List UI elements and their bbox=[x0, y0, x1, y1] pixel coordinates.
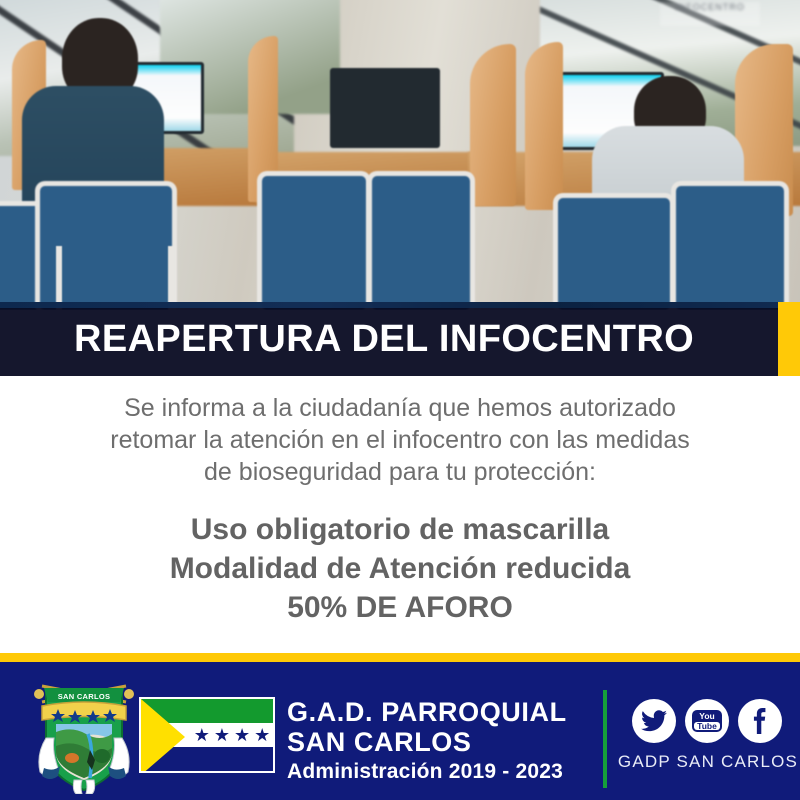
flag-star-1: ★ bbox=[194, 726, 210, 744]
measure-mask: Uso obligatorio de mascarilla bbox=[0, 510, 800, 549]
flag-triangle bbox=[141, 699, 185, 773]
social-handle: GADP SAN CARLOS bbox=[617, 752, 799, 772]
photo-divider-3 bbox=[470, 44, 516, 206]
page-title: REAPERTURA DEL INFOCENTRO bbox=[74, 318, 694, 361]
youtube-label-top: You bbox=[699, 712, 714, 721]
youtube-label-bottom: Tube bbox=[694, 722, 720, 731]
intro-paragraph: Se informa a la ciudadanía que hemos aut… bbox=[0, 392, 800, 488]
photo-chair-6 bbox=[676, 186, 784, 310]
photo-divider-4 bbox=[525, 42, 563, 210]
photo-chair-3 bbox=[262, 176, 366, 310]
footer-divider bbox=[603, 690, 607, 788]
twitter-icon[interactable] bbox=[632, 699, 676, 743]
yellow-separator-bar bbox=[0, 653, 800, 662]
intro-line-3: de bioseguridad para tu protección: bbox=[0, 456, 800, 488]
measures-list: Uso obligatorio de mascarilla Modalidad … bbox=[0, 510, 800, 627]
youtube-icon[interactable]: You Tube bbox=[685, 699, 729, 743]
org-administration-period: Administración 2019 - 2023 bbox=[287, 760, 567, 784]
intro-line-2: retomar la atención en el infocentro con… bbox=[0, 424, 800, 456]
flag-stars: ★ ★ ★ ★ bbox=[187, 723, 275, 747]
photo-chair-leg-2 bbox=[168, 246, 174, 310]
org-line-1: G.A.D. PARROQUIAL bbox=[287, 698, 567, 728]
measure-capacity: 50% DE AFORO bbox=[0, 588, 800, 627]
organization-name: G.A.D. PARROQUIAL SAN CARLOS Administrac… bbox=[287, 698, 567, 784]
svg-text:SAN CARLOS: SAN CARLOS bbox=[58, 692, 111, 701]
coat-of-arms-icon: SAN CARLOS bbox=[28, 672, 140, 794]
photo-chair-5 bbox=[558, 198, 670, 310]
poster: INFOCENTRO bbox=[0, 0, 800, 800]
youtube-glyph: You Tube bbox=[692, 710, 722, 732]
photo-chair-leg-1 bbox=[56, 246, 62, 310]
facebook-icon[interactable] bbox=[738, 699, 782, 743]
photo-sign: INFOCENTRO bbox=[660, 2, 760, 26]
flag-star-2: ★ bbox=[214, 726, 230, 744]
photo-chair-4 bbox=[372, 176, 470, 310]
main-content: Se informa a la ciudadanía que hemos aut… bbox=[0, 376, 800, 653]
flag-star-4: ★ bbox=[254, 726, 270, 744]
header-photo: INFOCENTRO bbox=[0, 0, 800, 310]
org-line-2: SAN CARLOS bbox=[287, 728, 567, 758]
social-links: You Tube bbox=[632, 697, 784, 745]
banner-top-edge bbox=[0, 302, 800, 308]
flag-star-3: ★ bbox=[234, 726, 250, 744]
intro-line-1: Se informa a la ciudadanía que hemos aut… bbox=[0, 392, 800, 424]
title-banner: REAPERTURA DEL INFOCENTRO bbox=[0, 302, 800, 376]
photo-monitor-2 bbox=[330, 68, 440, 148]
measure-modality: Modalidad de Atención reducida bbox=[0, 549, 800, 588]
san-carlos-flag-icon: ★ ★ ★ ★ bbox=[139, 697, 275, 773]
banner-accent-bar bbox=[778, 302, 800, 376]
